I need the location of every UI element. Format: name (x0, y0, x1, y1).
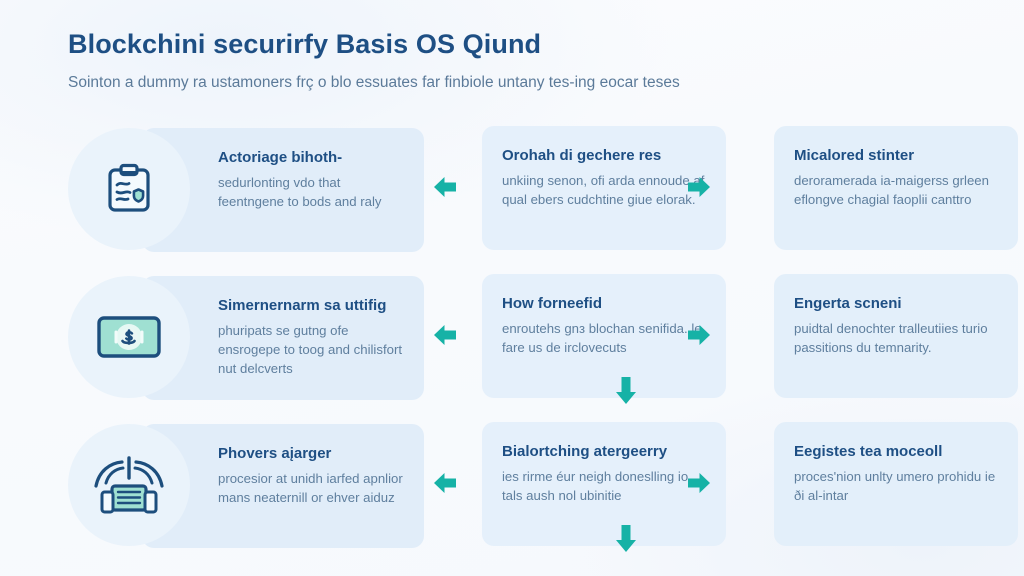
arrow-left-icon (432, 174, 458, 200)
arrow-right-icon (686, 322, 712, 348)
card-title: Phovers aįarger (218, 444, 408, 464)
card-title: Bialortching atergeerry (502, 442, 706, 462)
row-1-icon-card-group: Actoriage bihoth- sedurlonting vdo that … (68, 126, 424, 250)
arrow-down-icon (613, 376, 639, 406)
card-body: unkiing senon, ofi arda ennoude af qual … (502, 171, 706, 210)
clipboard-shield-icon (68, 128, 190, 250)
banknote-dollar-icon (68, 276, 190, 398)
card-row1-col3[interactable]: Micalored stinter deroramerada ia-maiger… (774, 126, 1018, 250)
card-row-3: Phovers aįarger procesior at unidh iarfe… (68, 422, 958, 550)
card-title: Micalored stinter (794, 146, 998, 166)
card-body: proces'nion unlty umero prohidu ie ði al… (794, 467, 998, 506)
card-row3-col3[interactable]: Eegistes tea moceoll proces'nion unlty u… (774, 422, 1018, 546)
arrow-left-icon (432, 470, 458, 496)
card-row2-col3[interactable]: Engerta scneni puidtal denochter tralleu… (774, 274, 1018, 398)
card-body: deroramerada ia-maigerss grleen eflongve… (794, 171, 998, 210)
card-body: puidtal denochter tralleutiies turio pas… (794, 319, 998, 358)
card-body: procesior at unidh iarfed apnlior mans n… (218, 469, 408, 508)
page-title: Blockchini securirfy Basis OS Qiund (68, 28, 964, 62)
card-title: Eegistes tea moceoll (794, 442, 998, 462)
card-title: Engerta scneni (794, 294, 998, 314)
card-body: sedurlonting vdo that feentngene to bods… (218, 173, 408, 212)
arrow-right-icon (686, 470, 712, 496)
card-title: Simernernarm sa uttifig (218, 296, 408, 316)
arrow-left-icon (432, 322, 458, 348)
cards-grid: Actoriage bihoth- sedurlonting vdo that … (68, 126, 958, 570)
card-title: Actoriage bihoth- (218, 148, 408, 168)
row-3-icon-card-group: Phovers aįarger procesior at unidh iarfe… (68, 422, 424, 546)
row-2-icon-card-group: Simernernarm sa uttifig phuripats se gut… (68, 274, 424, 398)
card-title: Orohah di gechere res (502, 146, 706, 166)
card-title: How forneefid (502, 294, 706, 314)
card-row-2: Simernernarm sa uttifig phuripats se gut… (68, 274, 958, 402)
arrow-right-icon (686, 174, 712, 200)
page-header: Blockchini securirfy Basis OS Qiund Soin… (68, 28, 964, 94)
arrow-down-icon (613, 524, 639, 554)
card-body: phuripats se gutng ofe ensrogepe to toog… (218, 321, 408, 379)
card-row-1: Actoriage bihoth- sedurlonting vdo that … (68, 126, 958, 254)
infographic-page: Blockchini securirfy Basis OS Qiund Soin… (0, 0, 1024, 576)
card-body: enroutehs gnз blochan senifida. le fare … (502, 319, 706, 358)
server-broadcast-icon (68, 424, 190, 546)
page-subtitle: Sointon a dummy ra ustamoners frç o blo … (68, 73, 964, 94)
card-body: ies rirme éur neigh doneslling io tals a… (502, 467, 706, 506)
